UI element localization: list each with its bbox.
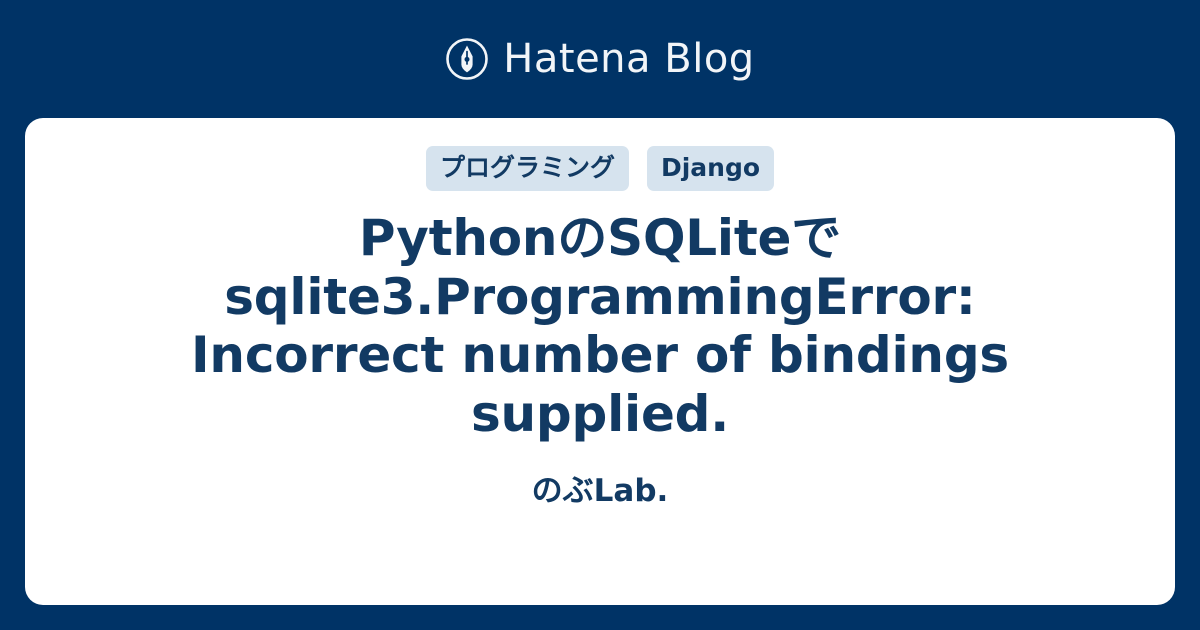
tag-chip-django[interactable]: Django bbox=[647, 146, 774, 191]
hatena-pen-nib-icon bbox=[445, 37, 489, 81]
ogp-card-root: Hatena Blog プログラミング Django PythonのSQLite… bbox=[0, 0, 1200, 630]
site-header: Hatena Blog bbox=[0, 0, 1200, 118]
blog-name: のぶLab. bbox=[532, 473, 669, 510]
brand-name: Hatena Blog bbox=[503, 39, 754, 79]
entry-card: プログラミング Django PythonのSQLiteでsqlite3.Pro… bbox=[25, 118, 1175, 605]
tag-chip-programming[interactable]: プログラミング bbox=[426, 146, 629, 191]
tag-list: プログラミング Django bbox=[426, 146, 774, 191]
brand-lockup[interactable]: Hatena Blog bbox=[445, 37, 754, 81]
entry-title: PythonのSQLiteでsqlite3.ProgrammingError: … bbox=[95, 209, 1105, 443]
